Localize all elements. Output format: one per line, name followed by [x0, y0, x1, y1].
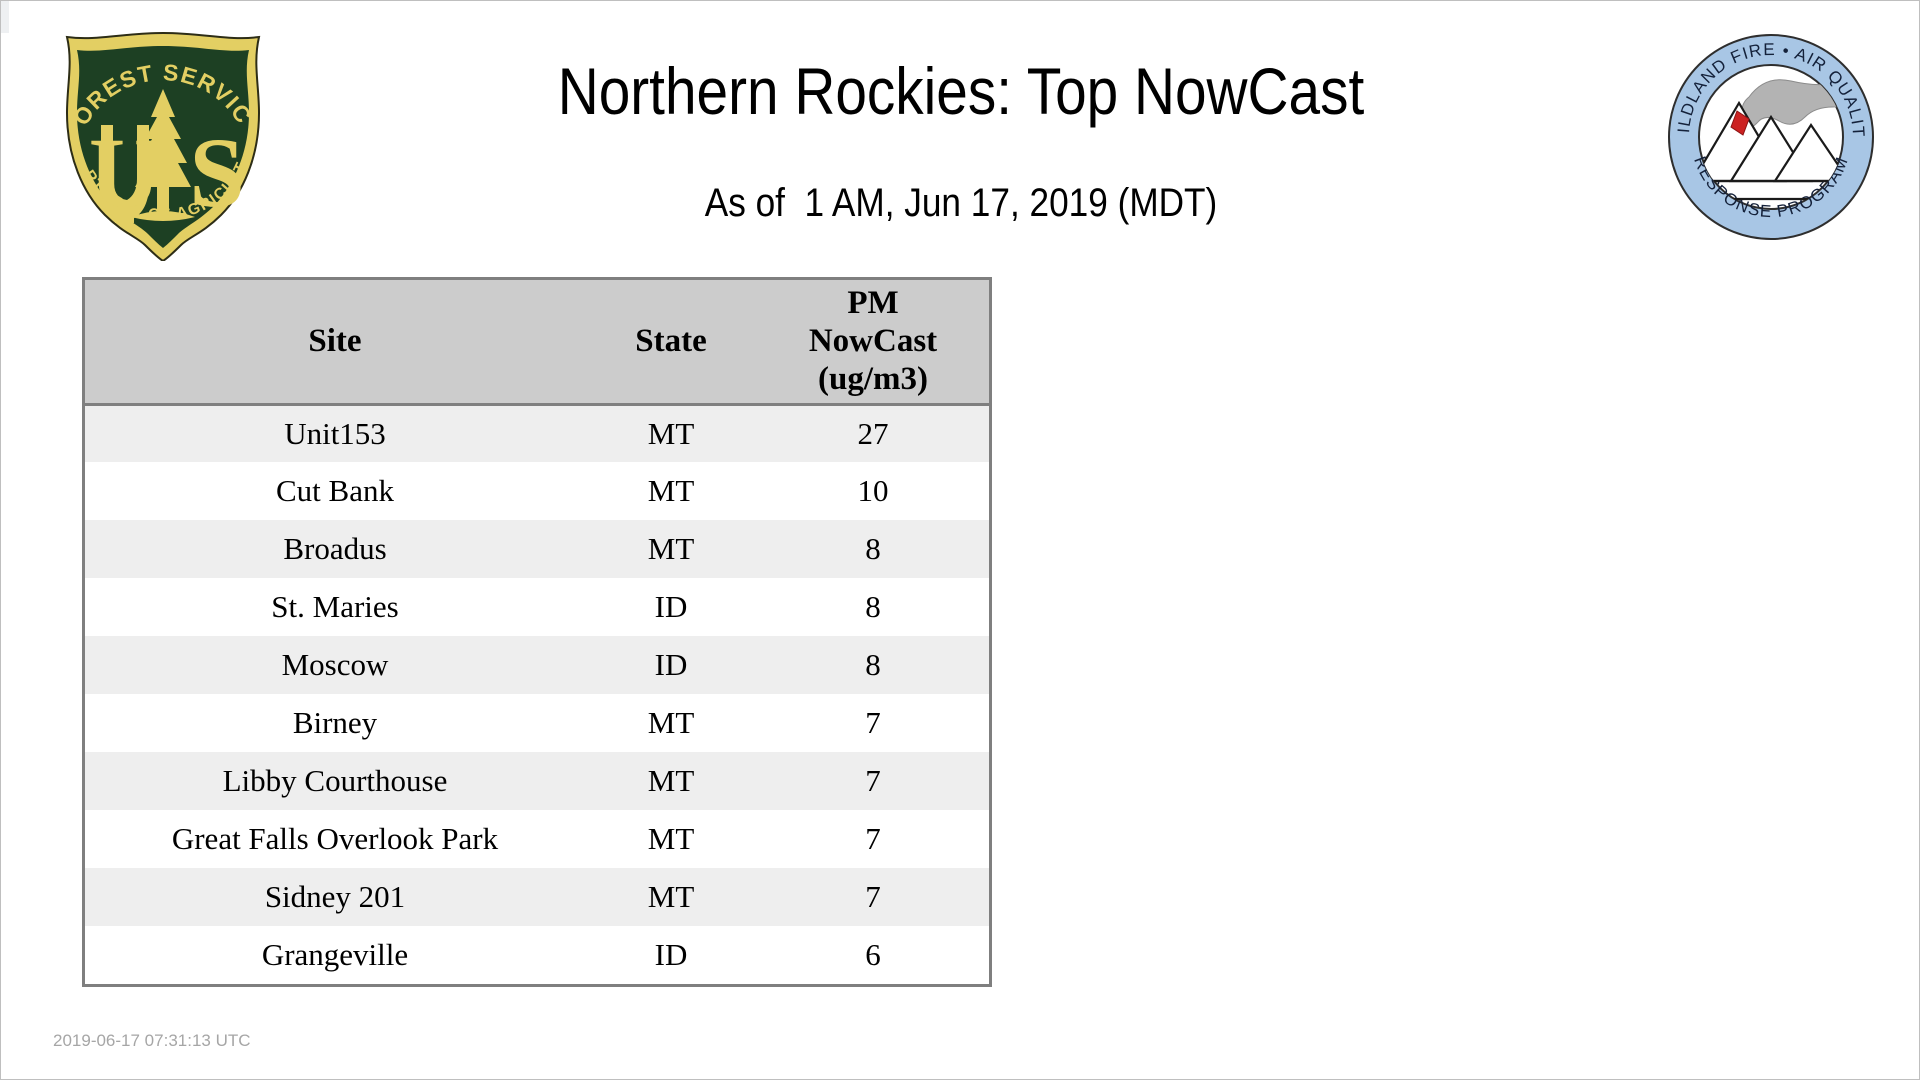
cell-site: Broadus — [85, 520, 585, 578]
cell-pm: 27 — [757, 404, 989, 462]
cell-pm: 10 — [757, 462, 989, 520]
cell-site: Cut Bank — [85, 462, 585, 520]
usfs-shield-logo: FOREST SERVICE DEPARTMENT OF AGRICULTURE… — [53, 29, 273, 261]
column-header-state-label: State — [589, 322, 753, 360]
cell-state: ID — [585, 578, 757, 636]
cell-state: MT — [585, 462, 757, 520]
column-header-site-label: Site — [89, 322, 581, 360]
table-header: Site State PM NowCast (ug/m3) — [85, 280, 989, 404]
cell-pm: 7 — [757, 868, 989, 926]
footer-timestamp: 2019-06-17 07:31:13 UTC — [53, 1031, 251, 1051]
column-header-pm-nowcast-label: PM NowCast (ug/m3) — [761, 284, 985, 398]
page-subtitle: As of 1 AM, Jun 17, 2019 (MDT) — [363, 179, 1560, 227]
cell-pm: 7 — [757, 810, 989, 868]
table-row: MoscowID8 — [85, 636, 989, 694]
table-row: BirneyMT7 — [85, 694, 989, 752]
table-body: Unit153MT27Cut BankMT10BroadusMT8St. Mar… — [85, 404, 989, 984]
cell-pm: 8 — [757, 578, 989, 636]
cell-state: MT — [585, 404, 757, 462]
cell-site: Unit153 — [85, 404, 585, 462]
cell-pm: 8 — [757, 520, 989, 578]
table-row: Libby CourthouseMT7 — [85, 752, 989, 810]
table-row: GrangevilleID6 — [85, 926, 989, 984]
cell-state: MT — [585, 520, 757, 578]
page-title: Northern Rockies: Top NowCast — [376, 53, 1546, 129]
cell-pm: 6 — [757, 926, 989, 984]
cell-site: Moscow — [85, 636, 585, 694]
wfaqrp-seal-logo: WILDLAND FIRE • AIR QUALITY RESPONSE PRO… — [1665, 31, 1877, 243]
cell-pm: 7 — [757, 694, 989, 752]
report-page: FOREST SERVICE DEPARTMENT OF AGRICULTURE… — [0, 0, 1920, 1080]
cell-site: Sidney 201 — [85, 868, 585, 926]
table-row: St. MariesID8 — [85, 578, 989, 636]
column-header-pm-nowcast: PM NowCast (ug/m3) — [757, 280, 989, 404]
cell-state: MT — [585, 694, 757, 752]
table-row: Cut BankMT10 — [85, 462, 989, 520]
cell-state: MT — [585, 868, 757, 926]
cell-state: MT — [585, 752, 757, 810]
table-row: Great Falls Overlook ParkMT7 — [85, 810, 989, 868]
corner-artifact — [1, 1, 9, 33]
cell-site: Great Falls Overlook Park — [85, 810, 585, 868]
nowcast-table: Site State PM NowCast (ug/m3) Unit153MT2… — [82, 277, 992, 987]
table-header-row: Site State PM NowCast (ug/m3) — [85, 280, 989, 404]
cell-site: St. Maries — [85, 578, 585, 636]
column-header-site: Site — [85, 280, 585, 404]
cell-state: ID — [585, 636, 757, 694]
cell-site: Libby Courthouse — [85, 752, 585, 810]
svg-text:S: S — [189, 117, 245, 228]
cell-site: Grangeville — [85, 926, 585, 984]
table-row: Sidney 201MT7 — [85, 868, 989, 926]
table-row: Unit153MT27 — [85, 404, 989, 462]
table-row: BroadusMT8 — [85, 520, 989, 578]
column-header-state: State — [585, 280, 757, 404]
cell-site: Birney — [85, 694, 585, 752]
cell-state: ID — [585, 926, 757, 984]
cell-state: MT — [585, 810, 757, 868]
cell-pm: 8 — [757, 636, 989, 694]
cell-pm: 7 — [757, 752, 989, 810]
